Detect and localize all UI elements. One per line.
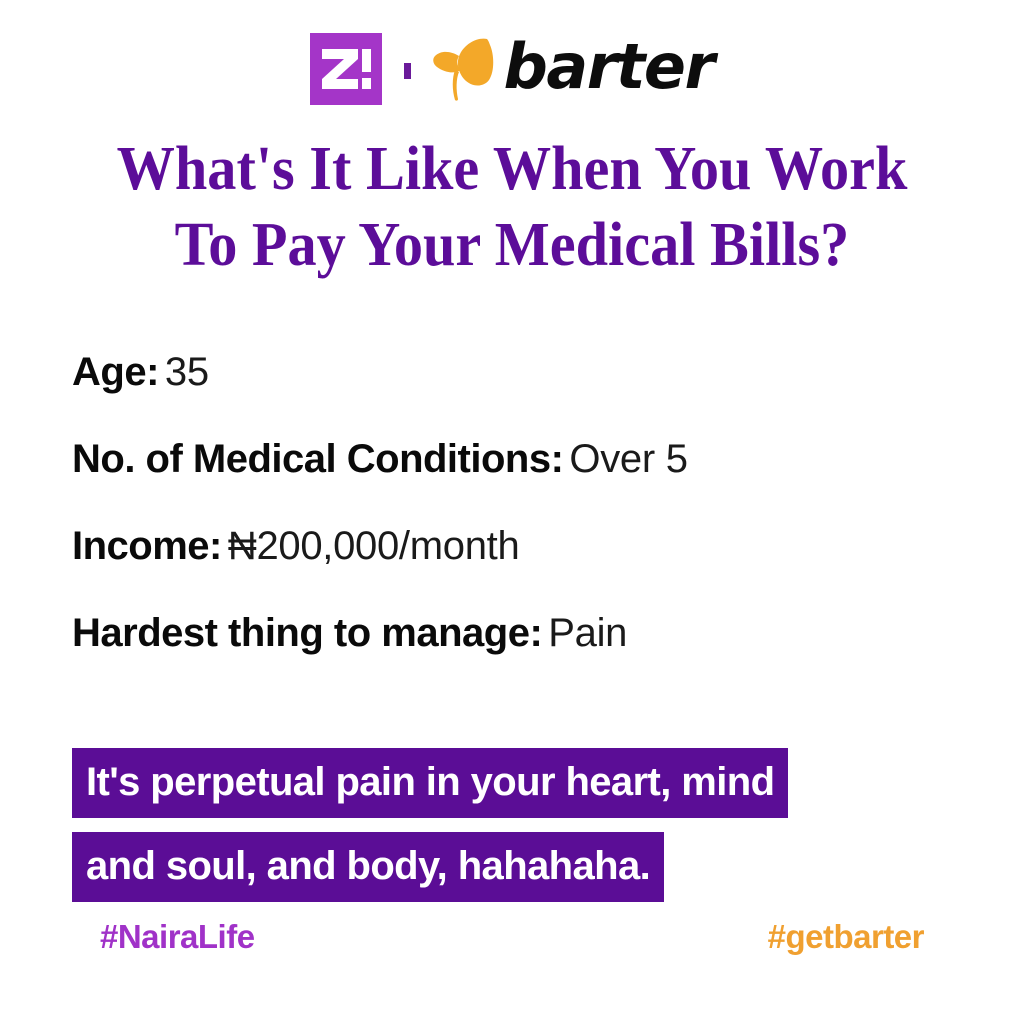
fact-label: Income: [72,524,222,568]
fact-row-conditions: No. of Medical Conditions:Over 5 [72,439,972,526]
brand-lockup: barter [0,30,1024,108]
fact-label: No. of Medical Conditions: [72,437,563,481]
hashtag-getbarter[interactable]: #getbarter [768,920,924,953]
fact-row-age: Age:35 [72,352,972,439]
fact-list: Age:35 No. of Medical Conditions:Over 5 … [72,352,972,700]
fact-label: Hardest thing to manage: [72,611,542,655]
fact-value: 35 [165,350,209,394]
page-title-line-2: To Pay Your Medical Bills? [31,208,994,284]
hashtag-row: #NairaLife #getbarter [0,920,1024,953]
hashtag-nairalife[interactable]: #NairaLife [100,920,255,953]
fact-value: Over 5 [569,437,687,481]
fact-value: Pain [548,611,627,655]
pull-quote-line-2: and soul, and body, hahahaha. [72,832,664,902]
fact-value: ₦200,000/month [228,524,520,568]
fact-label: Age: [72,350,159,394]
page-title: What's It Like When You Work To Pay Your… [31,132,994,283]
pull-quote-line-1: It's perpetual pain in your heart, mind [72,748,788,818]
zikoko-logo-icon[interactable] [310,33,382,105]
fact-row-hardest-thing: Hardest thing to manage:Pain [72,613,972,700]
page-title-line-1: What's It Like When You Work [31,132,994,208]
barter-butterfly-icon [433,36,495,102]
lockup-separator-icon [404,63,411,79]
fact-row-income: Income:₦200,000/month [72,526,972,613]
pull-quote: It's perpetual pain in your heart, mind … [72,748,788,902]
barter-wordmark: barter [503,36,713,98]
